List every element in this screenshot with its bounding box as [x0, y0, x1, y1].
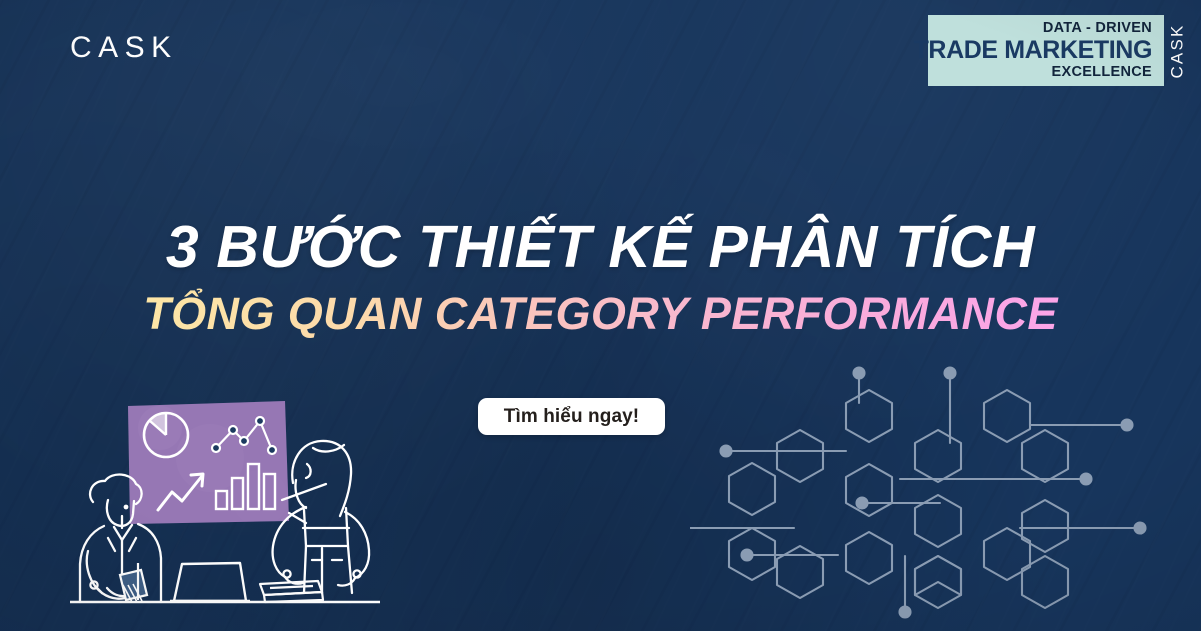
hexagon — [915, 430, 961, 482]
connector-center-dot — [857, 498, 941, 509]
headline-line-1: 3 BƯỚC THIẾT KẾ PHÂN TÍCH — [0, 214, 1201, 280]
headline-block: 3 BƯỚC THIẾT KẾ PHÂN TÍCH TỔNG QUAN CATE… — [0, 214, 1201, 339]
hexagon — [846, 464, 892, 516]
book-stack — [260, 581, 323, 602]
headline-line-2: TỔNG QUAN CATEGORY PERFORMANCE — [0, 288, 1201, 339]
connector-left-mid — [721, 446, 847, 457]
badge-side-text: CASK — [1168, 23, 1188, 78]
hexagon — [1022, 500, 1068, 552]
hexagon — [777, 430, 823, 482]
illustration-people-charts — [60, 388, 390, 631]
connector-top-right — [945, 368, 956, 444]
cask-logo[interactable]: CASK — [70, 33, 178, 63]
badge-side-label: CASK — [1164, 15, 1192, 86]
hexagon — [1022, 430, 1068, 482]
hexagon — [777, 546, 823, 598]
hexagon — [1022, 556, 1068, 608]
hexagon — [729, 463, 775, 515]
badge-line-top: DATA - DRIVEN — [1043, 21, 1152, 36]
badge-line-bottom: EXCELLENCE — [1052, 65, 1153, 80]
badge-line-main: TRADE MARKETING — [914, 37, 1152, 64]
laptop — [170, 563, 250, 601]
trade-marketing-badge: DATA - DRIVEN TRADE MARKETING EXCELLENCE… — [928, 15, 1192, 86]
connector-bottom-stem — [900, 556, 911, 618]
presentation-board — [120, 398, 300, 528]
hexagon-network-decoration — [690, 360, 1201, 631]
hexagon-network-svg — [690, 360, 1201, 631]
connector-right-lower — [1020, 523, 1146, 534]
cta-button[interactable]: Tìm hiểu ngay! — [478, 398, 665, 435]
marketing-banner: CASK DATA - DRIVEN TRADE MARKETING EXCEL… — [0, 0, 1201, 631]
hexagon — [915, 556, 961, 595]
hexagon — [846, 532, 892, 584]
illustration-svg — [60, 388, 390, 631]
hexagon — [846, 390, 892, 442]
connector-right-upper — [1030, 420, 1133, 431]
badge-box: DATA - DRIVEN TRADE MARKETING EXCELLENCE — [928, 15, 1164, 86]
connector-right-mid — [900, 474, 1092, 485]
hexagon — [984, 390, 1030, 442]
hexagon — [984, 528, 1030, 580]
